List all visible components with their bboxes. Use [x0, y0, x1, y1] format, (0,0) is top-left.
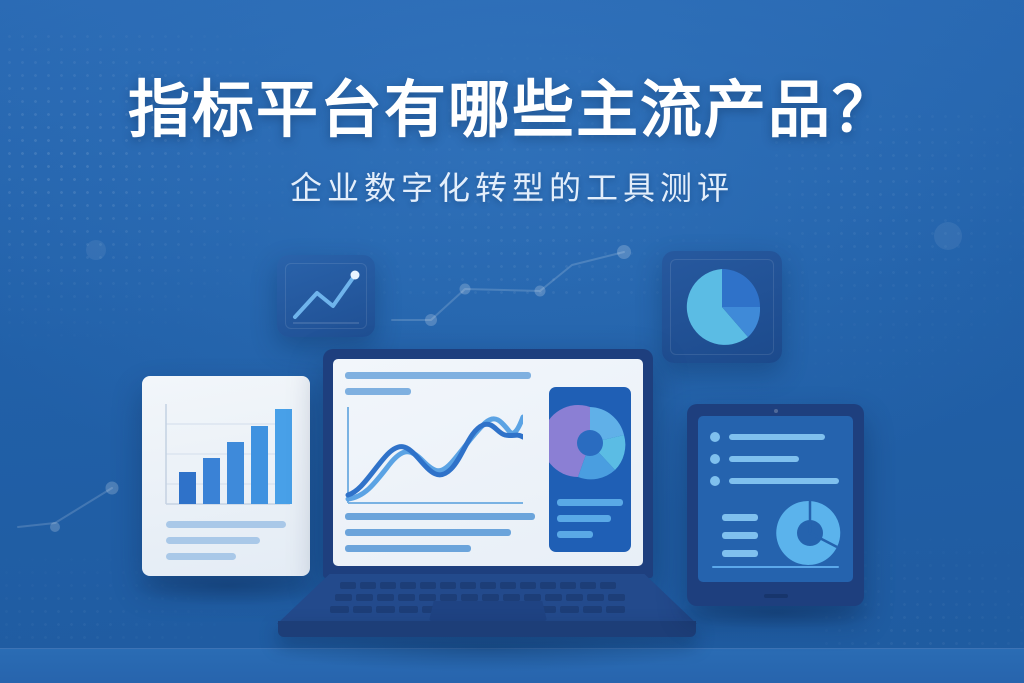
panel-text-line — [557, 499, 623, 506]
laptop-trackpad[interactable] — [429, 601, 547, 621]
keyboard-row[interactable] — [340, 582, 616, 589]
list-item-label — [729, 478, 839, 484]
tablet-screen[interactable] — [698, 416, 853, 582]
laptop-device[interactable] — [277, 349, 697, 639]
tablet-divider — [712, 566, 839, 568]
screen-footer-bar — [345, 513, 535, 520]
bullet-icon — [710, 432, 720, 442]
tablet-home-indicator[interactable] — [764, 594, 788, 598]
tablet-list — [710, 432, 841, 486]
page-title: 指标平台有哪些主流产品？ — [0, 78, 1024, 145]
tablet-legend-bars — [722, 514, 758, 557]
list-item-label — [729, 434, 825, 440]
line-chart-tile[interactable] — [277, 255, 375, 337]
legend-bar — [722, 532, 758, 539]
laptop-lid — [323, 349, 653, 578]
pie-chart-tile[interactable] — [662, 251, 782, 363]
bullet-icon — [710, 476, 720, 486]
panel-text-lines — [549, 495, 631, 538]
tile-inner-border — [670, 259, 774, 355]
illustration-canvas: 指标平台有哪些主流产品？ 企业数字化转型的工具测评 — [0, 0, 1024, 683]
screen-donut-chart — [549, 397, 631, 495]
keyboard-row[interactable] — [335, 594, 625, 601]
screen-footer-bar — [345, 545, 471, 552]
page-subtitle: 企业数字化转型的工具测评 — [0, 163, 1024, 209]
list-item[interactable] — [710, 454, 841, 464]
legend-bar — [722, 514, 758, 521]
tablet-donut-chart — [775, 498, 845, 568]
list-item-label — [729, 456, 799, 462]
laptop-foot — [278, 621, 696, 637]
tile-inner-border — [285, 263, 367, 329]
list-item[interactable] — [710, 476, 841, 486]
list-item[interactable] — [710, 432, 841, 442]
panel-text-line — [557, 531, 593, 538]
laptop-screen[interactable] — [333, 359, 643, 566]
headline-block: 指标平台有哪些主流产品？ 企业数字化转型的工具测评 — [0, 0, 1024, 209]
ground-horizon — [0, 648, 1024, 683]
screen-footer-bars — [345, 513, 535, 552]
tablet-camera-icon — [774, 409, 778, 413]
legend-bar — [722, 550, 758, 557]
screen-side-panel[interactable] — [549, 387, 631, 552]
screen-line-chart — [345, 403, 523, 509]
screen-header-bar — [345, 388, 411, 395]
panel-text-line — [557, 515, 611, 522]
screen-header-bar — [345, 372, 531, 379]
tablet-device[interactable] — [687, 404, 864, 606]
bullet-icon — [710, 454, 720, 464]
screen-footer-bar — [345, 529, 511, 536]
